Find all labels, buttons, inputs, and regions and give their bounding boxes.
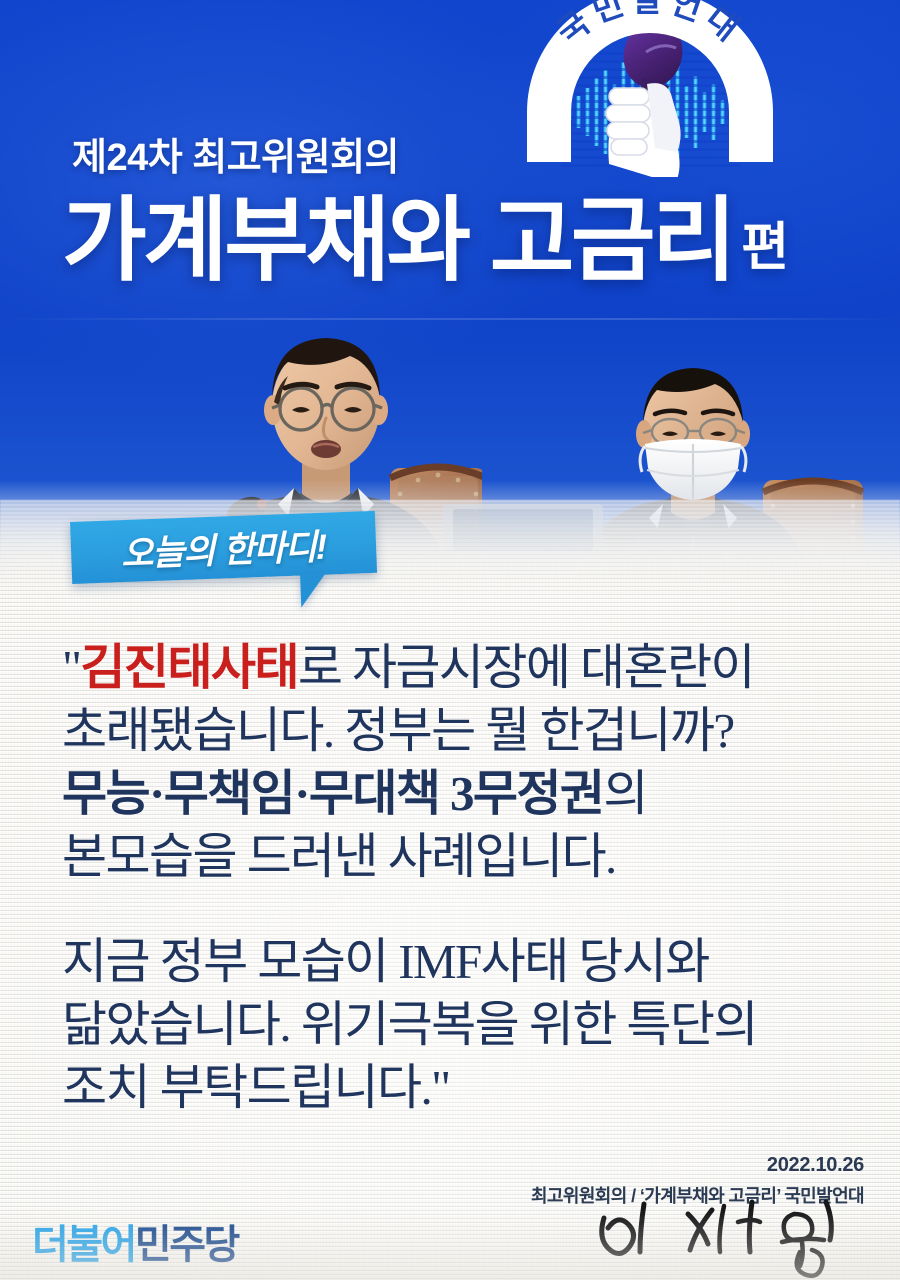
signature: 이재명 bbox=[586, 1196, 876, 1278]
quote-line-6: 닮았습니다. 위기극복을 위한 특단의 bbox=[62, 993, 862, 1056]
quote-line-7-text: 조치 부탁드립니다. bbox=[62, 1060, 431, 1115]
today-remark-badge: 오늘의 한마디! bbox=[70, 511, 377, 584]
badge-label: 오늘의 한마디! bbox=[70, 511, 377, 584]
quote-line-1: "김진태사태로 자금시장에 대혼란이 bbox=[62, 636, 862, 699]
header-photo-panel: 국민발언대 제24차 최고위원회의 가계부채와 고금리 편 bbox=[0, 0, 900, 600]
quote-paragraph-gap bbox=[62, 888, 862, 930]
party-logo: 더불어민주당 bbox=[32, 1212, 238, 1270]
badge-tail bbox=[300, 573, 327, 608]
quote-close-mark: " bbox=[431, 1060, 449, 1115]
quote-line-3-bold: 무능·무책임·무대책 3무정권 bbox=[62, 766, 603, 821]
party-name-first: 더불어 bbox=[32, 1223, 135, 1267]
quote-line-7: 조치 부탁드립니다." bbox=[62, 1056, 862, 1119]
quote-line-2: 초래됐습니다. 정부는 뭘 한겁니까? bbox=[62, 699, 862, 762]
quote-line-1-rest: 로 자금시장에 대혼란이 bbox=[298, 640, 754, 695]
headline-main: 가계부채와 고금리 bbox=[62, 196, 733, 286]
quote-line-3-rest: 의 bbox=[603, 766, 646, 821]
quote-block: "김진태사태로 자금시장에 대혼란이 초래됐습니다. 정부는 뭘 한겁니까? 무… bbox=[62, 636, 862, 1119]
headline-suffix: 편 bbox=[741, 205, 787, 286]
quote-highlight: 김진태사태 bbox=[80, 640, 297, 695]
quote-line-3: 무능·무책임·무대책 3무정권의 bbox=[62, 762, 862, 825]
quote-line-5: 지금 정부 모습이 IMF사태 당시와 bbox=[62, 930, 862, 993]
quote-open-mark: " bbox=[62, 640, 80, 695]
party-name-second: 민주당 bbox=[135, 1223, 238, 1267]
headline-title: 가계부채와 고금리 편 bbox=[62, 196, 788, 286]
gukmin-baleondae-logo: 국민발언대 bbox=[505, 0, 795, 177]
meeting-kicker: 제24차 최고위원회의 bbox=[72, 126, 399, 181]
publish-date: 2022.10.26 bbox=[767, 1154, 864, 1177]
card-news-image: 국민발언대 제24차 최고위원회의 가계부채와 고금리 편 오늘의 한마디! "… bbox=[0, 0, 900, 1280]
quote-line-4: 본모습을 드러낸 사례입니다. bbox=[62, 825, 862, 888]
